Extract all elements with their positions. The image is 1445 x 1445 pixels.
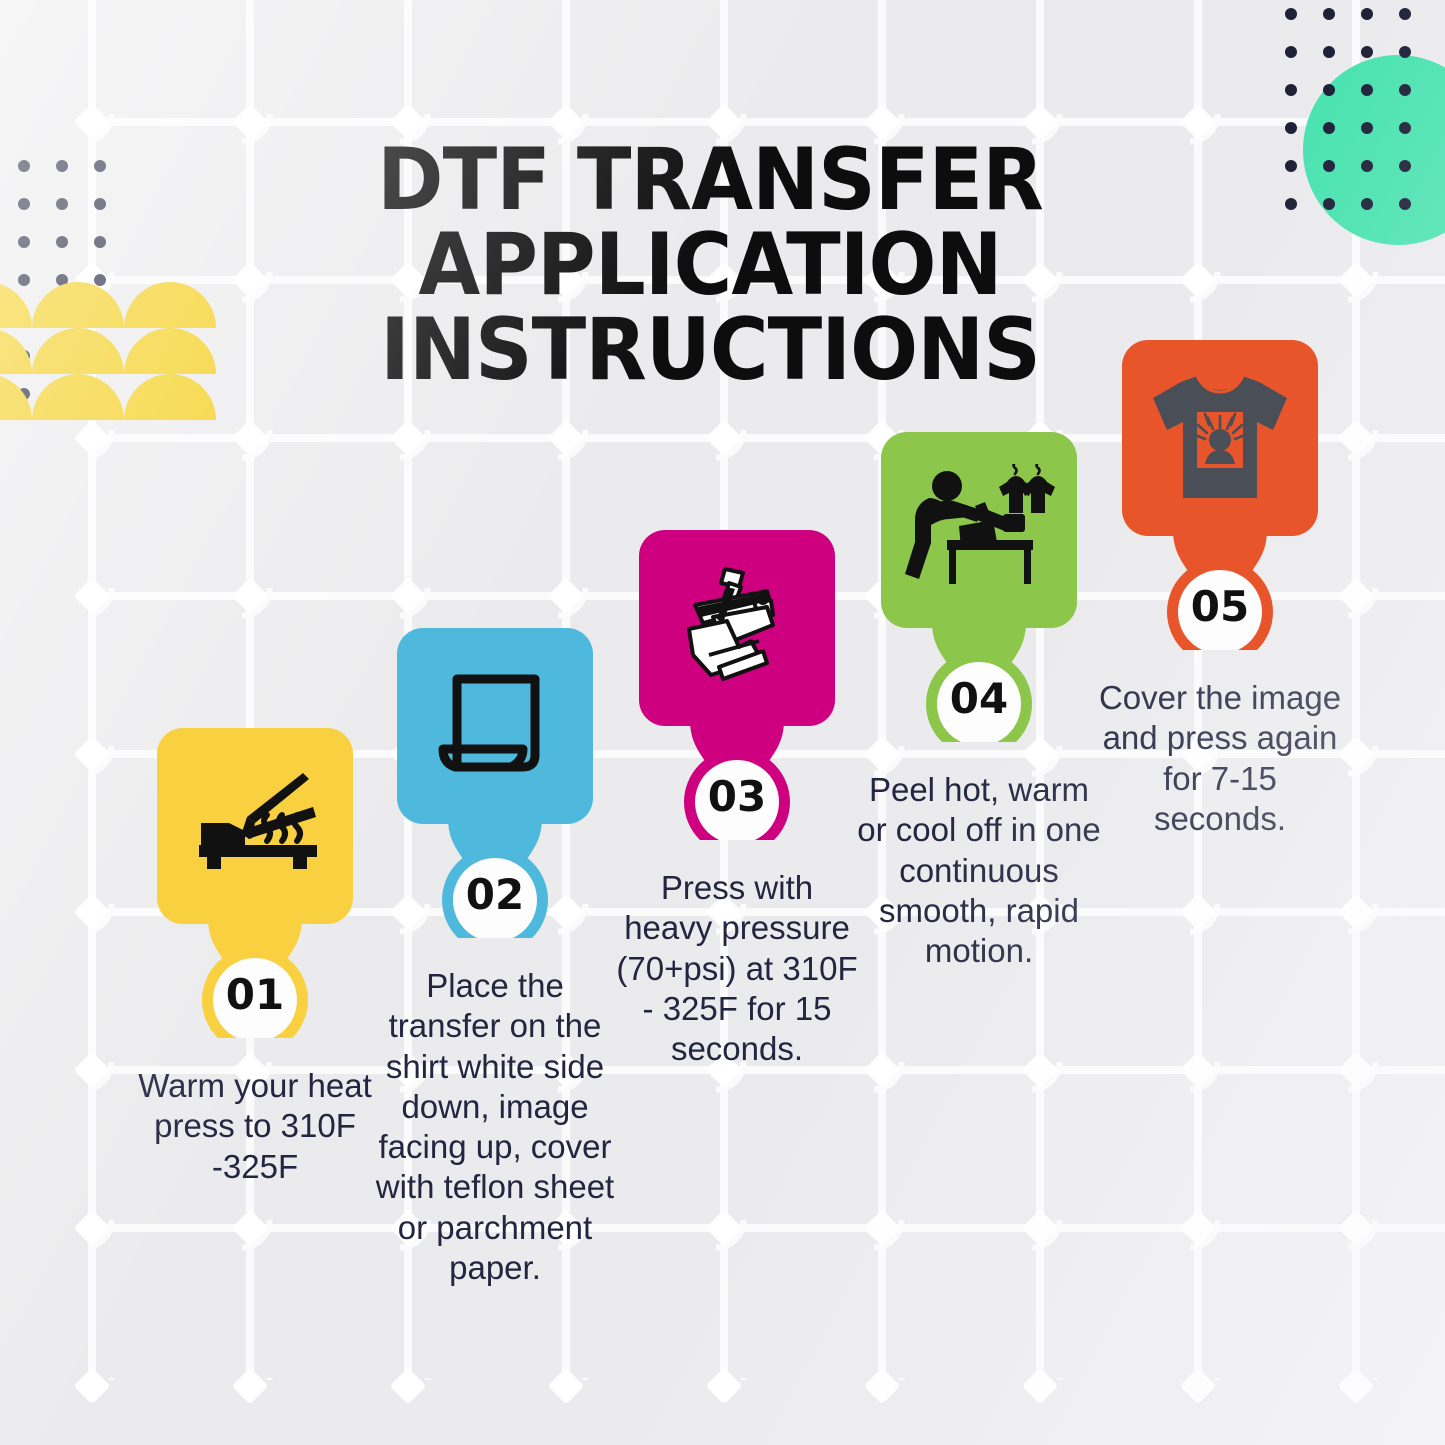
grid-diamond: [74, 894, 111, 931]
person-peeling-transfer-icon: [899, 464, 1059, 596]
decorative-dot: [1361, 198, 1373, 210]
decorative-dot: [1361, 46, 1373, 58]
step-icon-card: [639, 530, 835, 726]
decorative-dot: [56, 160, 68, 172]
step-description: Place the transfer on the shirt white si…: [370, 966, 620, 1288]
decorative-dot: [94, 236, 106, 248]
decorative-dot: [18, 198, 30, 210]
step-pin: 01: [130, 728, 380, 1004]
grid-diamond: [74, 1052, 111, 1089]
grid-diamond: [1338, 262, 1375, 299]
grid-diamond: [232, 1368, 269, 1405]
grid-diamond: [548, 420, 585, 457]
grid-diamond: [1022, 1210, 1059, 1247]
grid-diamond: [864, 1052, 901, 1089]
grid-diamond: [390, 420, 427, 457]
step-icon-card: [881, 432, 1077, 628]
grid-diamond: [74, 1368, 111, 1405]
grid-diamond: [232, 420, 269, 457]
decorative-dot: [56, 236, 68, 248]
grid-diamond: [1180, 894, 1217, 931]
decorative-dot: [1323, 160, 1335, 172]
step-icon-card: [397, 628, 593, 824]
step-number: 05: [1191, 582, 1249, 631]
grid-diamond: [864, 1368, 901, 1405]
grid-diamond: [1180, 1210, 1217, 1247]
step-description: Cover the image and press again for 7-15…: [1095, 678, 1345, 839]
step-stem-wrap: 02: [370, 820, 620, 904]
decorative-dot: [1399, 8, 1411, 20]
decorative-dot: [1285, 46, 1297, 58]
decorative-dot: [1399, 122, 1411, 134]
step-05: 05 Cover the image and press again for 7…: [1095, 340, 1345, 839]
grid-diamond: [706, 420, 743, 457]
grid-diamond: [74, 420, 111, 457]
printed-tshirt-icon: [1145, 368, 1295, 508]
decorative-dot: [1285, 84, 1297, 96]
heat-press-open-icon: [185, 767, 325, 885]
step-02: 02 Place the transfer on the shirt white…: [370, 628, 620, 1288]
step-icon-card: [1122, 340, 1318, 536]
grid-diamond: [1022, 1052, 1059, 1089]
grid-diamond: [706, 1368, 743, 1405]
decorative-dot: [1399, 198, 1411, 210]
grid-diamond: [1180, 1052, 1217, 1089]
decorative-dot: [56, 198, 68, 210]
step-number: 03: [708, 772, 766, 821]
grid-diamond: [232, 578, 269, 615]
grid-diamond: [548, 1368, 585, 1405]
infographic-poster: DTF TRANSFER APPLICATION INSTRUCTIONS: [0, 0, 1445, 1445]
decorative-dot: [94, 198, 106, 210]
grid-diamond: [390, 1368, 427, 1405]
grid-diamond: [548, 578, 585, 615]
grid-diamond: [864, 1210, 901, 1247]
step-stem-wrap: 03: [612, 722, 862, 806]
grid-diamond: [1338, 1052, 1375, 1089]
decorative-dot: [1361, 160, 1373, 172]
decorative-dot: [1323, 198, 1335, 210]
decorative-dot: [1323, 46, 1335, 58]
step-stem-wrap: 05: [1095, 532, 1345, 616]
step-description: Warm your heat press to 310F -325F: [130, 1066, 380, 1187]
step-stem-wrap: 01: [130, 920, 380, 1004]
grid-diamond: [74, 1210, 111, 1247]
decorative-dot: [1285, 122, 1297, 134]
decorative-dot: [1361, 8, 1373, 20]
decorative-dot: [1285, 198, 1297, 210]
grid-diamond: [1338, 1368, 1375, 1405]
decorative-dot: [1323, 84, 1335, 96]
grid-diamond: [74, 736, 111, 773]
grid-diamond: [232, 104, 269, 141]
grid-diamond: [1180, 1368, 1217, 1405]
grid-diamond: [1338, 894, 1375, 931]
decorative-dot: [1399, 84, 1411, 96]
decorative-dot: [94, 160, 106, 172]
grid-diamond: [74, 104, 111, 141]
decorative-dot: [18, 274, 30, 286]
step-pin: 05: [1095, 340, 1345, 616]
step-number: 01: [226, 970, 284, 1019]
step-description: Peel hot, warm or cool off in one contin…: [854, 770, 1104, 971]
step-icon-card: [157, 728, 353, 924]
decorative-dot: [1323, 122, 1335, 134]
decorative-dot: [18, 236, 30, 248]
title-line-1: DTF TRANSFER APPLICATION: [377, 130, 1043, 315]
step-04: 04 Peel hot, warm or cool off in one con…: [854, 432, 1104, 971]
step-01: 01 Warm your heat press to 310F -325F: [130, 728, 380, 1187]
grid-diamond: [1022, 1368, 1059, 1405]
step-pin: 04: [854, 432, 1104, 708]
decorative-dot: [18, 160, 30, 172]
decorative-dot: [1399, 160, 1411, 172]
grid-diamond: [232, 1210, 269, 1247]
decorative-dot: [1285, 160, 1297, 172]
grid-diamond: [390, 578, 427, 615]
grid-diamond: [1180, 104, 1217, 141]
step-pin: 02: [370, 628, 620, 904]
step-number: 02: [466, 870, 524, 919]
step-pin: 03: [612, 530, 862, 806]
decorative-dot: [1399, 46, 1411, 58]
step-description: Press with heavy pressure (70+psi) at 31…: [612, 868, 862, 1069]
decorative-dot: [1361, 84, 1373, 96]
step-stem-wrap: 04: [854, 624, 1104, 708]
decorative-dot: [1285, 8, 1297, 20]
decorative-dot: [94, 274, 106, 286]
step-03: 03 Press with heavy pressure (70+psi) at…: [612, 530, 862, 1069]
dot-grid-top-right: [1285, 8, 1425, 193]
grid-diamond: [1338, 1210, 1375, 1247]
grid-diamond: [74, 578, 111, 615]
step-number: 04: [950, 674, 1008, 723]
decorative-dot: [1323, 8, 1335, 20]
grid-diamond: [706, 1210, 743, 1247]
decorative-dot: [1361, 122, 1373, 134]
heat-press-machine-icon: [667, 563, 807, 693]
transfer-sheet-icon: [435, 667, 555, 785]
